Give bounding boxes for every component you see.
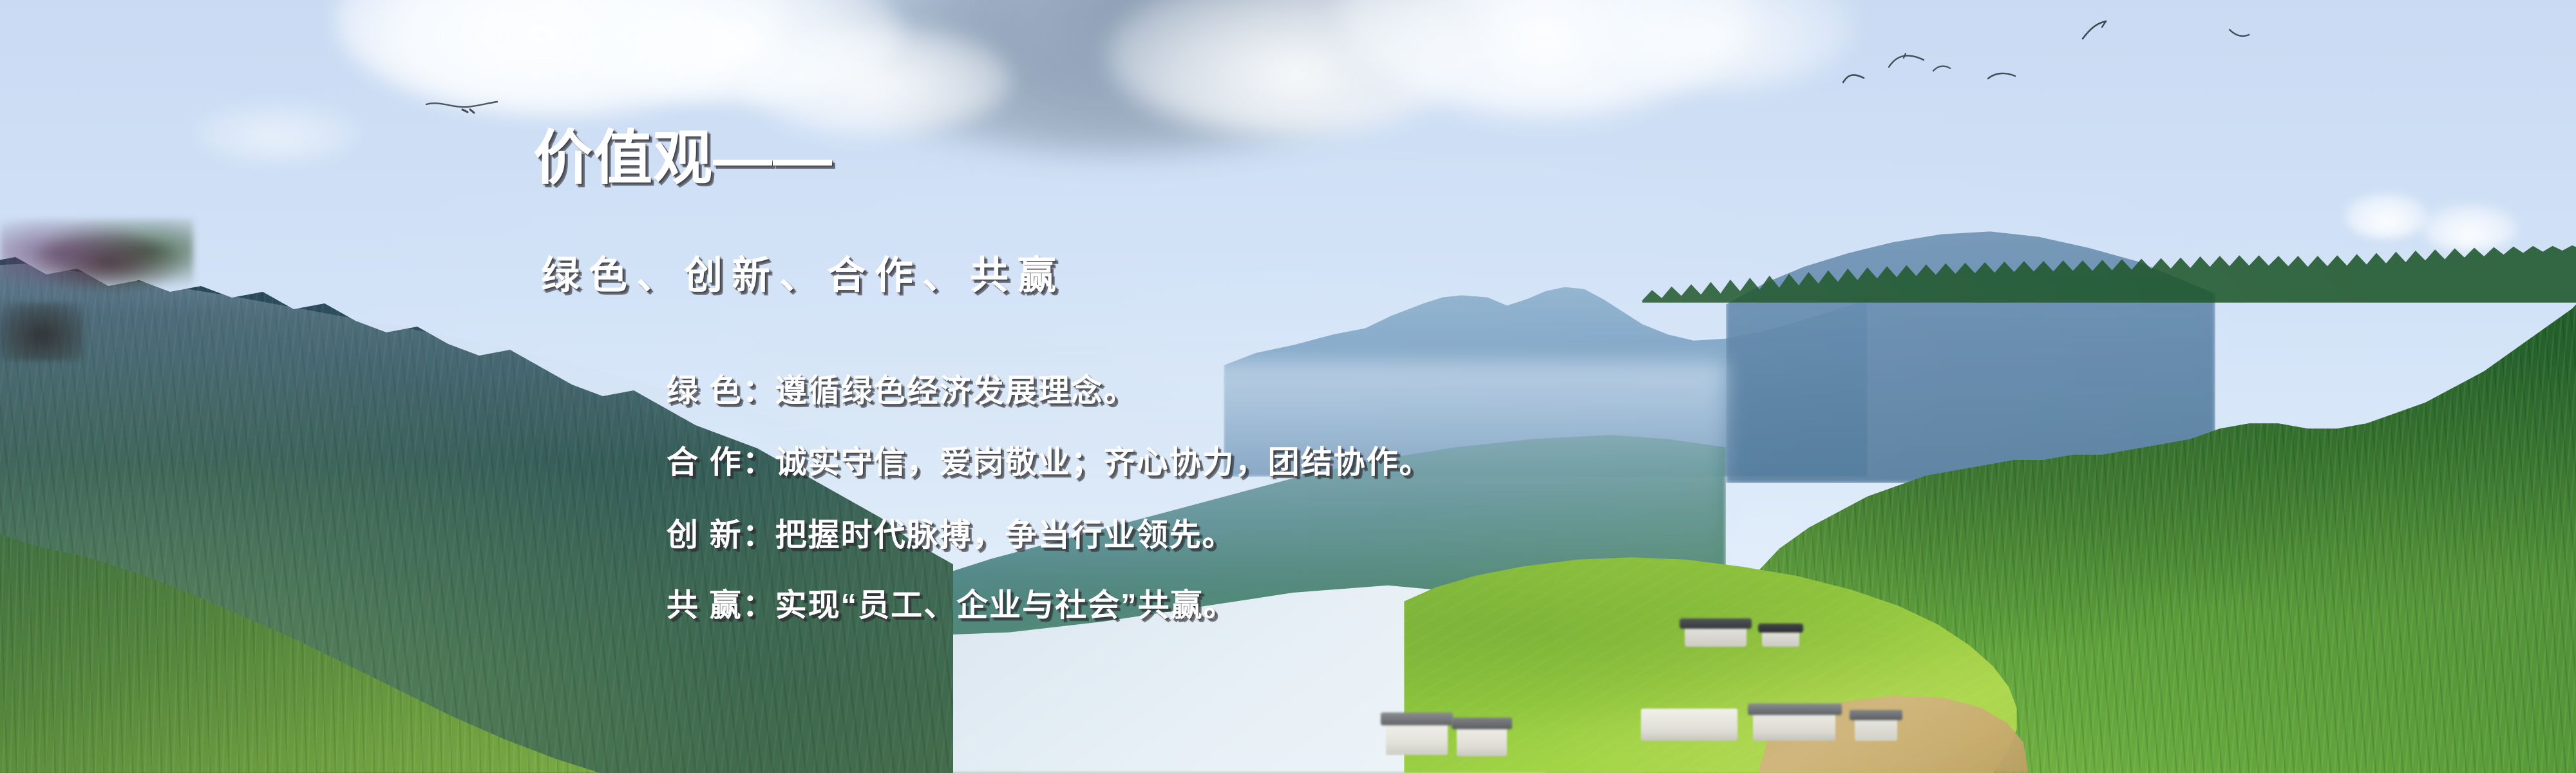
village-roof xyxy=(1748,703,1842,715)
farmhouse-roof xyxy=(1680,618,1752,629)
cloud-small-right-2 xyxy=(2421,205,2518,251)
bird-icon xyxy=(2080,19,2108,41)
village-building xyxy=(1457,725,1507,756)
value-line-green: 绿 色：遵循绿色经济发展理念。 xyxy=(667,376,1137,407)
bird-icon xyxy=(1887,52,1926,71)
value-banner: 价值观—— 绿色、创新、合作、共赢 绿 色：遵循绿色经济发展理念。 合 作：诚实… xyxy=(0,0,2576,773)
value-line-cooperation: 合 作：诚实守信，爱岗敬业；齐心协力，团结协作。 xyxy=(667,447,1432,479)
value-line-innovation: 创 新：把握时代脉搏，争当行业领先。 xyxy=(667,520,1235,551)
cloud-wisp-left xyxy=(193,103,361,161)
tree-cluster-dark xyxy=(0,303,84,361)
bird-icon xyxy=(1987,70,2016,82)
village-roof xyxy=(1850,710,1902,720)
page-title: 价值观—— xyxy=(533,129,833,188)
values-subtitle: 绿色、创新、合作、共赢 xyxy=(541,256,1065,295)
bird-icon xyxy=(1842,72,1865,86)
value-line-winwin: 共 赢：实现“员工、企业与社会”共赢。 xyxy=(667,590,1236,622)
bird-icon xyxy=(1932,63,1951,75)
village-roof xyxy=(1452,718,1512,729)
tree-cluster-purple xyxy=(0,219,193,303)
village-building xyxy=(1753,711,1835,741)
bird-icon xyxy=(2228,26,2250,40)
village-building xyxy=(1386,720,1448,755)
village-roof xyxy=(1381,712,1453,725)
village-roof xyxy=(1634,700,1744,714)
cloud-small-right-1 xyxy=(2344,193,2428,238)
cloud-white-3 xyxy=(741,26,1011,135)
farmhouse-roof xyxy=(1758,624,1803,633)
bird-icon xyxy=(425,98,502,115)
